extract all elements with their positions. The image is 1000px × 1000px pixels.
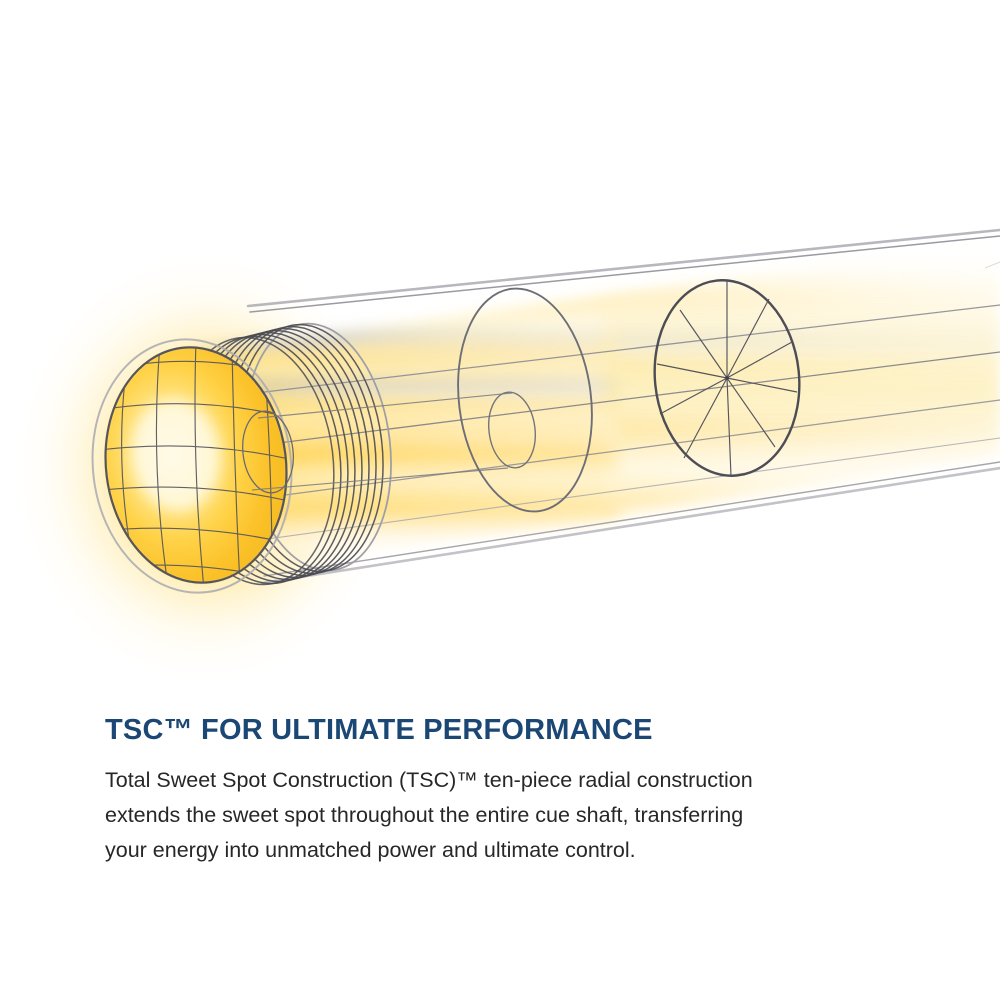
description-line-2: extends the sweet spot throughout the en… [105,798,905,833]
feature-description: Total Sweet Spot Construction (TSC)™ ten… [105,763,905,867]
shaft-inner-glow [196,243,1000,575]
description-line-1: Total Sweet Spot Construction (TSC)™ ten… [105,763,905,798]
cue-shaft-cutaway-illustration [0,0,1000,690]
description-line-3: your energy into unmatched power and ult… [105,833,905,868]
page-title: TSC™ FOR ULTIMATE PERFORMANCE [105,714,915,747]
feature-panel: TSC™ FOR ULTIMATE PERFORMANCE Total Swee… [0,0,1000,1000]
radial-disc-center [725,376,729,380]
feature-copy: TSC™ FOR ULTIMATE PERFORMANCE Total Swee… [105,714,915,868]
